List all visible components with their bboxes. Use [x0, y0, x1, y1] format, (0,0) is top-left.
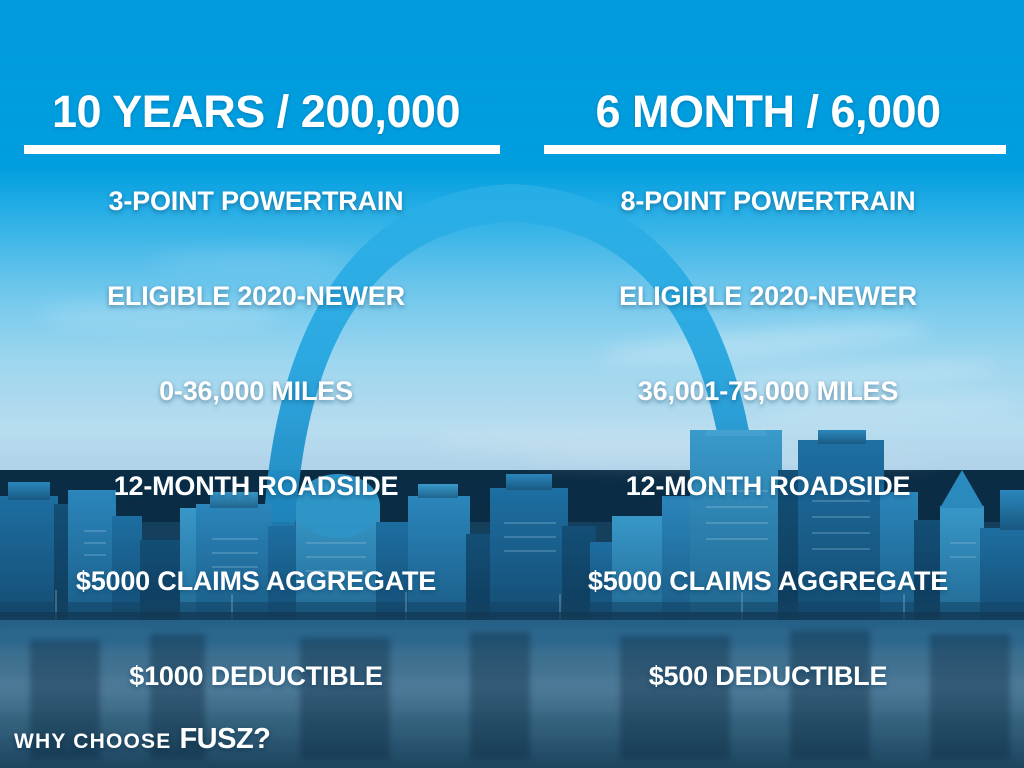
feature-row: 8-POINT POWERTRAIN: [512, 186, 1024, 281]
feature-row: 0-36,000 MILES: [0, 376, 512, 471]
feature-label: 0-36,000 MILES: [159, 376, 353, 406]
feature-label: $500 DEDUCTIBLE: [649, 661, 888, 691]
feature-label: ELIGIBLE 2020-NEWER: [619, 281, 917, 311]
feature-label: 8-POINT POWERTRAIN: [621, 186, 916, 216]
plan-column-right: 6 MONTH / 6,000 8-POINT POWERTRAIN ELIGI…: [512, 0, 1024, 768]
plan-features-left: 3-POINT POWERTRAIN ELIGIBLE 2020-NEWER 0…: [0, 186, 512, 756]
feature-row: $500 DEDUCTIBLE: [512, 661, 1024, 756]
feature-row: 36,001-75,000 MILES: [512, 376, 1024, 471]
feature-row: 3-POINT POWERTRAIN: [0, 186, 512, 281]
title-underline-left: [24, 145, 500, 154]
brand-lockup: WHY CHOOSE FUSZ?: [14, 723, 270, 756]
feature-row: ELIGIBLE 2020-NEWER: [0, 281, 512, 376]
feature-row: 12-MONTH ROADSIDE: [0, 471, 512, 566]
feature-label: 3-POINT POWERTRAIN: [109, 186, 404, 216]
feature-label: 12-MONTH ROADSIDE: [114, 471, 399, 501]
feature-label: $1000 DEDUCTIBLE: [129, 661, 382, 691]
plan-column-left: 10 YEARS / 200,000 3-POINT POWERTRAIN EL…: [0, 0, 512, 768]
feature-row: 12-MONTH ROADSIDE: [512, 471, 1024, 566]
feature-label: $5000 CLAIMS AGGREGATE: [588, 566, 948, 596]
feature-label: $5000 CLAIMS AGGREGATE: [76, 566, 436, 596]
feature-label: 12-MONTH ROADSIDE: [626, 471, 911, 501]
brand-prefix: WHY CHOOSE: [14, 730, 171, 754]
slide-content: 10 YEARS / 200,000 3-POINT POWERTRAIN EL…: [0, 0, 1024, 768]
plan-title-right: 6 MONTH / 6,000: [512, 88, 1024, 136]
feature-label: ELIGIBLE 2020-NEWER: [107, 281, 405, 311]
plan-header-right: 6 MONTH / 6,000: [512, 88, 1024, 154]
feature-row: ELIGIBLE 2020-NEWER: [512, 281, 1024, 376]
plan-header-left: 10 YEARS / 200,000: [0, 88, 512, 154]
feature-row: $5000 CLAIMS AGGREGATE: [512, 566, 1024, 661]
plan-comparison: 10 YEARS / 200,000 3-POINT POWERTRAIN EL…: [0, 0, 1024, 768]
brand-name: FUSZ?: [179, 723, 270, 756]
plan-features-right: 8-POINT POWERTRAIN ELIGIBLE 2020-NEWER 3…: [512, 186, 1024, 756]
feature-row: $5000 CLAIMS AGGREGATE: [0, 566, 512, 661]
feature-label: 36,001-75,000 MILES: [638, 376, 898, 406]
slide-canvas: 10 YEARS / 200,000 3-POINT POWERTRAIN EL…: [0, 0, 1024, 768]
title-underline-right: [544, 145, 1006, 154]
plan-title-left: 10 YEARS / 200,000: [0, 88, 512, 136]
